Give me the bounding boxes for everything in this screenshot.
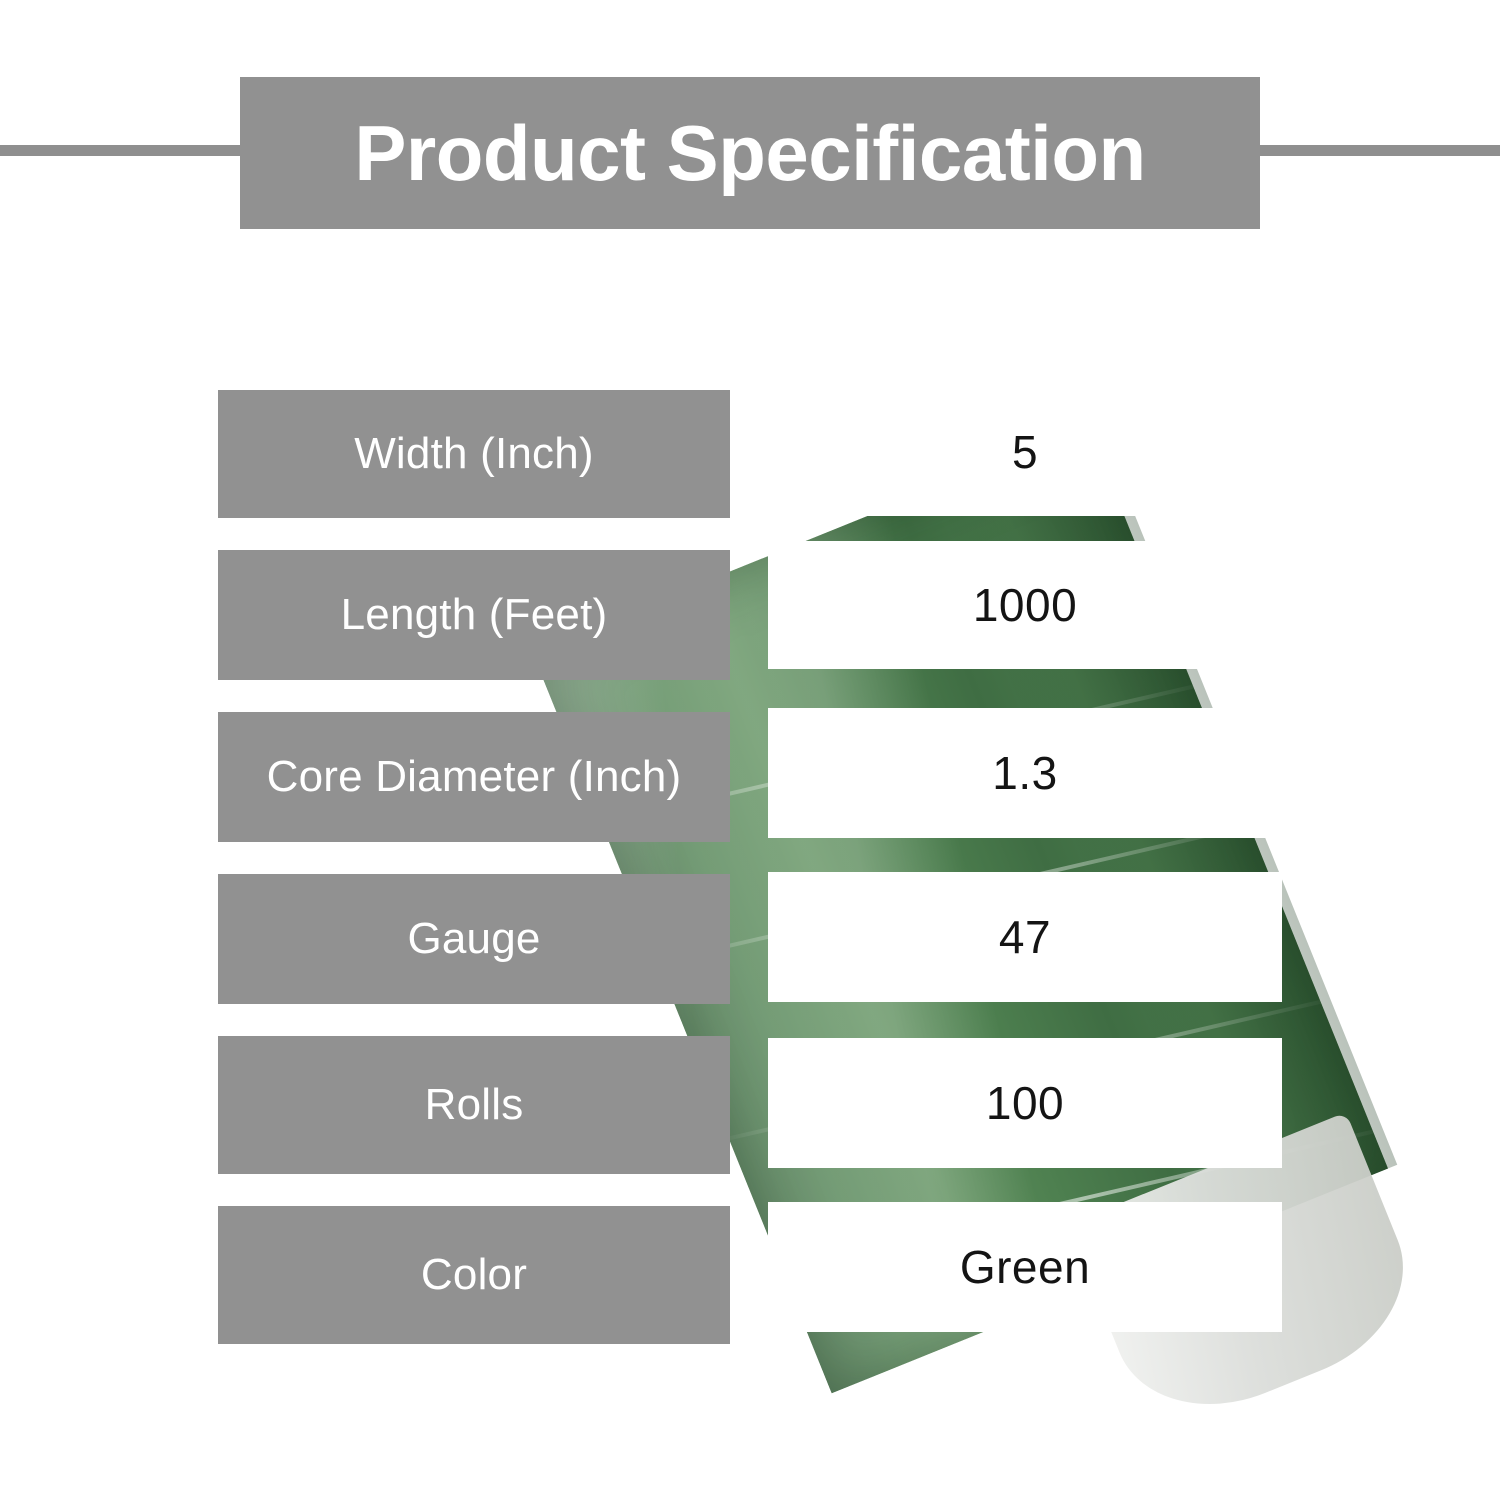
page-title: Product Specification bbox=[354, 114, 1145, 192]
page-title-banner: Product Specification bbox=[240, 77, 1260, 229]
spec-label: Width (Inch) bbox=[218, 390, 730, 518]
spec-label: Core Diameter (Inch) bbox=[218, 712, 730, 842]
spec-value: 5 bbox=[768, 388, 1282, 516]
spec-value: 1000 bbox=[768, 541, 1282, 669]
spec-value: 100 bbox=[768, 1038, 1282, 1168]
spec-label: Color bbox=[218, 1206, 730, 1344]
spec-value: 1.3 bbox=[768, 708, 1282, 838]
spec-label: Gauge bbox=[218, 874, 730, 1004]
spec-value: Green bbox=[768, 1202, 1282, 1332]
spec-label: Length (Feet) bbox=[218, 550, 730, 680]
spec-value: 47 bbox=[768, 872, 1282, 1002]
spec-label: Rolls bbox=[218, 1036, 730, 1174]
infographic-canvas: Product Specification Width (Inch) 5 Len… bbox=[0, 0, 1500, 1500]
